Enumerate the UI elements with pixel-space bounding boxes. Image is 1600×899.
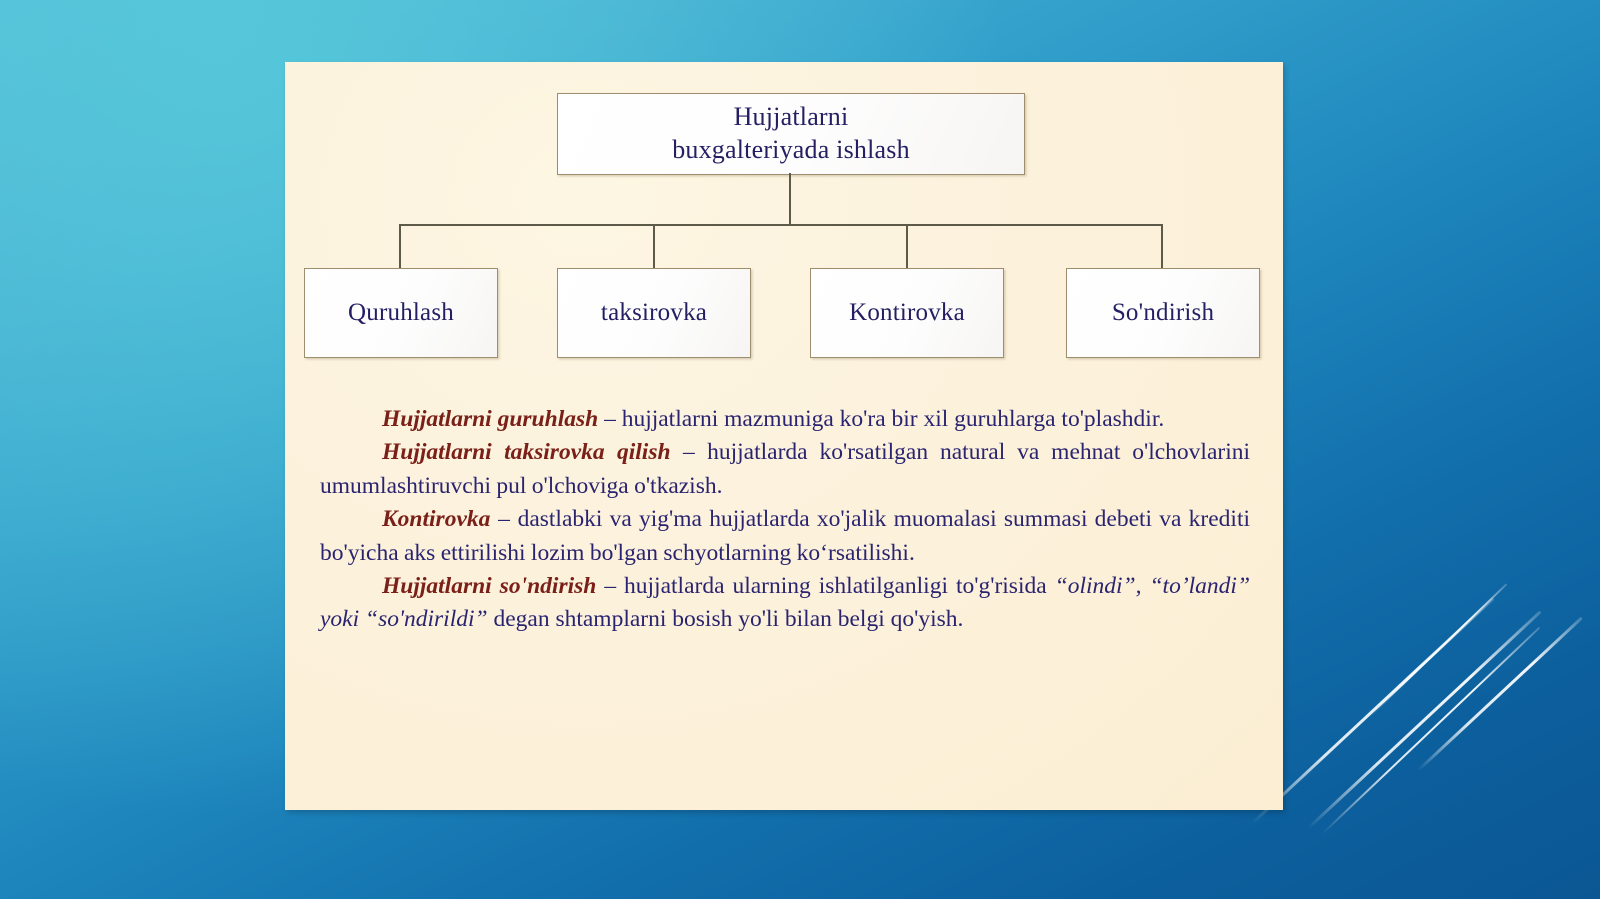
root-label-line-2: buxgalteriyada ishlash: [672, 135, 910, 164]
connector-branch-1: [653, 224, 655, 268]
connector-branch-0: [399, 224, 401, 268]
definition-quoted-1: “olindi”,: [1055, 573, 1142, 599]
connector-root-stem: [789, 173, 791, 225]
org-node-kontirovka-label: Kontirovka: [849, 297, 965, 329]
definitions-body: Hujjatlarni guruhlash – hujjatlarni mazm…: [320, 403, 1250, 637]
definition-term-3: Kontirovka: [382, 506, 490, 532]
definition-paragraph-2: Hujjatlarni taksirovka qilish – hujjatla…: [320, 436, 1250, 503]
root-label-line-1: Hujjatlarni: [734, 102, 849, 131]
definition-quoted-joiner: yoki: [320, 606, 359, 632]
streak-line-2: [1307, 611, 1542, 830]
org-node-sondirish[interactable]: So'ndirish: [1066, 268, 1260, 358]
definition-dash-2: –: [683, 439, 695, 465]
definition-term-1: Hujjatlarni guruhlash: [382, 406, 598, 432]
streak-line-3: [1321, 627, 1540, 835]
definition-dash-3: –: [498, 506, 510, 532]
org-node-quruhlash[interactable]: Quruhlash: [304, 268, 498, 358]
slide-canvas: Hujjatlarni buxgalteriyada ishlash Quruh…: [0, 0, 1600, 899]
org-node-quruhlash-label: Quruhlash: [348, 297, 454, 329]
definition-term-2: Hujjatlarni taksirovka qilish: [382, 439, 671, 465]
connector-branch-2: [906, 224, 908, 268]
decorative-streaks: [1260, 429, 1600, 899]
org-node-root[interactable]: Hujjatlarni buxgalteriyada ishlash: [557, 93, 1025, 175]
definition-quoted-3: “so'ndirildi”: [365, 606, 488, 632]
definition-text-1: hujjatlarni mazmuniga ko'ra bir xil guru…: [622, 406, 1165, 432]
connector-branch-3: [1161, 224, 1163, 268]
org-node-root-label: Hujjatlarni buxgalteriyada ishlash: [672, 101, 910, 167]
streak-line-4: [1369, 583, 1507, 716]
definition-term-4: Hujjatlarni so'ndirish: [382, 573, 596, 599]
content-panel: Hujjatlarni buxgalteriyada ishlash Quruh…: [285, 62, 1283, 810]
definition-dash-1: –: [604, 406, 616, 432]
connector-horizontal-bus: [399, 224, 1162, 226]
org-node-kontirovka[interactable]: Kontirovka: [810, 268, 1004, 358]
streak-line-1: [1251, 597, 1494, 824]
streak-line-5: [1417, 617, 1583, 772]
definition-paragraph-3: Kontirovka – dastlabki va yig'ma hujjatl…: [320, 503, 1250, 570]
org-node-taksirovka-label: taksirovka: [601, 297, 707, 329]
definition-paragraph-1: Hujjatlarni guruhlash – hujjatlarni mazm…: [320, 403, 1250, 436]
definition-paragraph-4: Hujjatlarni so'ndirish – hujjatlarda ula…: [320, 570, 1250, 637]
definition-dash-4: –: [604, 573, 616, 599]
org-chart: Hujjatlarni buxgalteriyada ishlash Quruh…: [285, 62, 1283, 372]
org-node-taksirovka[interactable]: taksirovka: [557, 268, 751, 358]
definition-quoted-2: “to’landi”: [1149, 573, 1250, 599]
definition-text-4-after: degan shtamplarni bosish yo'li bilan bel…: [493, 606, 963, 632]
org-node-sondirish-label: So'ndirish: [1112, 297, 1214, 329]
definition-text-4-before: hujjatlarda ularning ishlatilganligi to'…: [624, 573, 1047, 599]
